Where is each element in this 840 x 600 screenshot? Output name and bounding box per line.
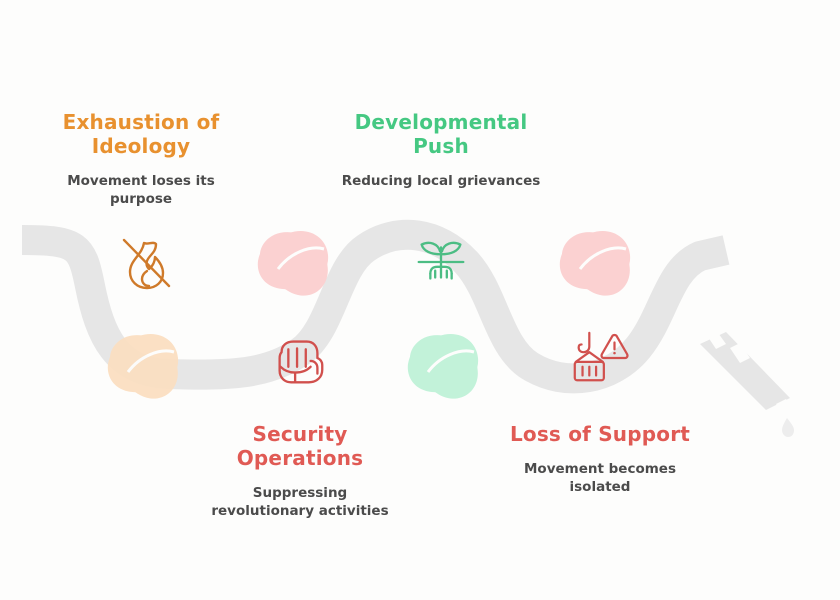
infographic-canvas: Exhaustion of Ideology Movement loses it… xyxy=(0,0,840,600)
milestone-security-operations: Security Operations Suppressing revoluti… xyxy=(207,422,393,520)
milestone-description: Movement becomes isolated xyxy=(497,460,703,496)
sprout-icon xyxy=(410,231,472,293)
blob-pink-right xyxy=(552,218,643,306)
milestone-description: Movement loses its purpose xyxy=(41,172,241,208)
milestone-description: Reducing local grievances xyxy=(341,172,541,190)
milestone-developmental-push: Developmental Push Reducing local grieva… xyxy=(341,110,541,190)
milestone-title: Exhaustion of Ideology xyxy=(41,110,241,158)
no-fire-icon xyxy=(113,231,177,295)
milestone-description: Suppressing revolutionary activities xyxy=(207,484,393,520)
wave-ribbon-layer xyxy=(0,0,840,600)
milestone-title: Security Operations xyxy=(207,422,393,470)
milestone-title: Developmental Push xyxy=(341,110,541,158)
milestone-title: Loss of Support xyxy=(497,422,703,446)
fist-icon xyxy=(268,329,330,391)
blob-mint xyxy=(400,321,491,409)
crane-warning-icon xyxy=(568,327,630,389)
ribbon-arrow-tip xyxy=(700,330,796,437)
milestone-loss-of-support: Loss of Support Movement becomes isolate… xyxy=(497,422,703,496)
milestone-exhaustion-of-ideology: Exhaustion of Ideology Movement loses it… xyxy=(41,110,241,208)
